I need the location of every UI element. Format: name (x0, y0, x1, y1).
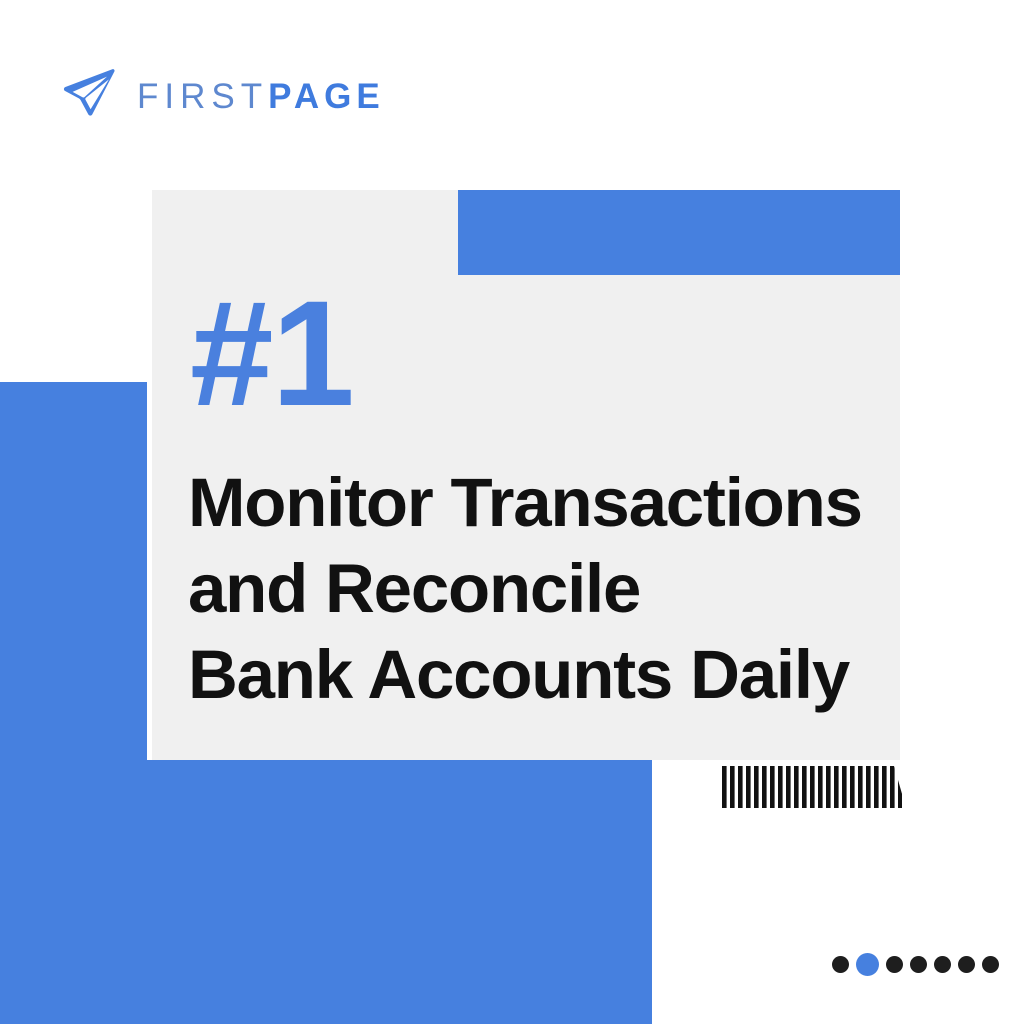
rank-number: #1 (190, 278, 353, 428)
brand-wordmark: FIRSTPAGE (137, 79, 385, 114)
pagination-dot-1[interactable] (832, 956, 849, 973)
decor-blue-block-left (0, 382, 147, 762)
decor-blue-block-bottom (0, 760, 652, 1024)
pagination-dot-7[interactable] (982, 956, 999, 973)
pagination-dot-5[interactable] (934, 956, 951, 973)
brand-word-page: PAGE (268, 79, 385, 114)
brand-word-first: FIRST (137, 79, 268, 114)
slide-canvas: FIRSTPAGE #1 Monitor Transactions and Re… (0, 0, 1024, 1024)
brand-logo[interactable]: FIRSTPAGE (57, 60, 385, 132)
pagination-dot-3[interactable] (886, 956, 903, 973)
headline-line-1: Monitor Transactions (188, 460, 888, 546)
pagination-dot-2-active[interactable] (856, 953, 879, 976)
pagination-dot-4[interactable] (910, 956, 927, 973)
headline-line-3: Bank Accounts Daily (188, 632, 888, 718)
card-accent-bar (458, 190, 900, 275)
pagination-dot-6[interactable] (958, 956, 975, 973)
page-title: Monitor Transactions and Reconcile Bank … (188, 460, 888, 718)
pagination-dots[interactable] (832, 950, 992, 978)
headline-line-2: and Reconcile (188, 546, 888, 632)
content-card: #1 Monitor Transactions and Reconcile Ba… (152, 190, 900, 760)
paper-plane-cursor-icon (57, 64, 121, 128)
